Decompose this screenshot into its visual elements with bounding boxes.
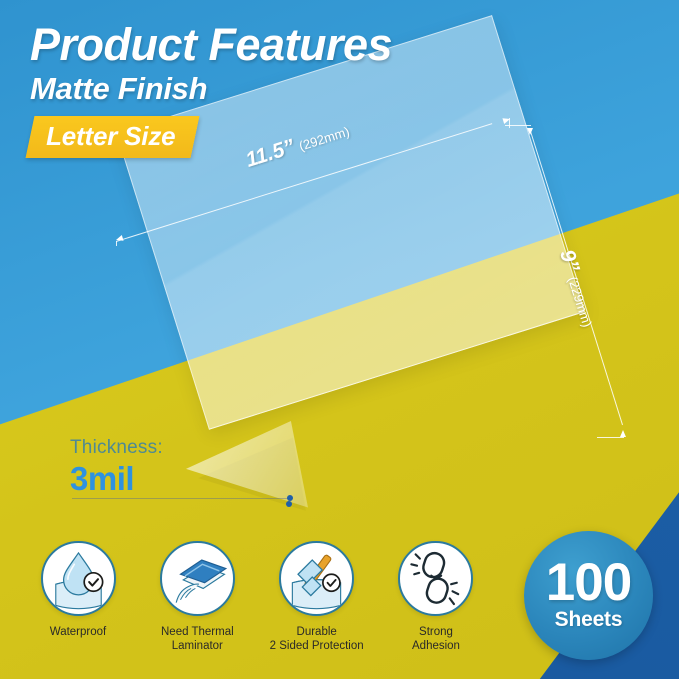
feature-label-strong-adhesion: Strong Adhesion [380, 625, 492, 654]
product-feature-infographic: 11.5”(292mm) 9”(229mm) Product Features … [0, 0, 679, 679]
thickness-leader-line [72, 498, 290, 499]
feature-label-durable: Durable 2 Sided Protection [261, 625, 373, 654]
heading-block: Product Features Matte Finish Letter Siz… [30, 22, 550, 158]
thickness-label: Thickness: [70, 437, 163, 459]
page-title: Product Features [30, 22, 550, 67]
letter-size-badge: Letter Size [26, 116, 200, 158]
feature-list: Waterproof Need Thermal Laminator [22, 541, 492, 654]
sheet-corner-dot [286, 501, 292, 507]
thermal-laminator-icon [160, 541, 235, 616]
width-tick-left [116, 241, 117, 246]
feature-item-waterproof[interactable]: Waterproof [22, 541, 134, 654]
quantity-count: 100 [546, 559, 631, 608]
letter-size-badge-label: Letter Size [46, 121, 175, 152]
durable-hammer-icon [279, 541, 354, 616]
feature-label-waterproof: Waterproof [22, 625, 134, 639]
page-subtitle: Matte Finish [30, 73, 550, 104]
waterproof-droplet-icon [41, 541, 116, 616]
feature-item-thermal-laminator[interactable]: Need Thermal Laminator [141, 541, 253, 654]
chain-link-icon [398, 541, 473, 616]
height-tick-bottom [597, 437, 624, 438]
quantity-unit: Sheets [555, 608, 623, 632]
height-arrow-bottom-icon [620, 430, 626, 437]
feature-label-thermal-laminator: Need Thermal Laminator [141, 625, 253, 654]
feature-item-durable[interactable]: Durable 2 Sided Protection [261, 541, 373, 654]
quantity-badge: 100 Sheets [524, 531, 653, 660]
thickness-callout: Thickness: 3mil [70, 437, 163, 498]
thickness-value: 3mil [70, 460, 163, 498]
feature-item-strong-adhesion[interactable]: Strong Adhesion [380, 541, 492, 654]
